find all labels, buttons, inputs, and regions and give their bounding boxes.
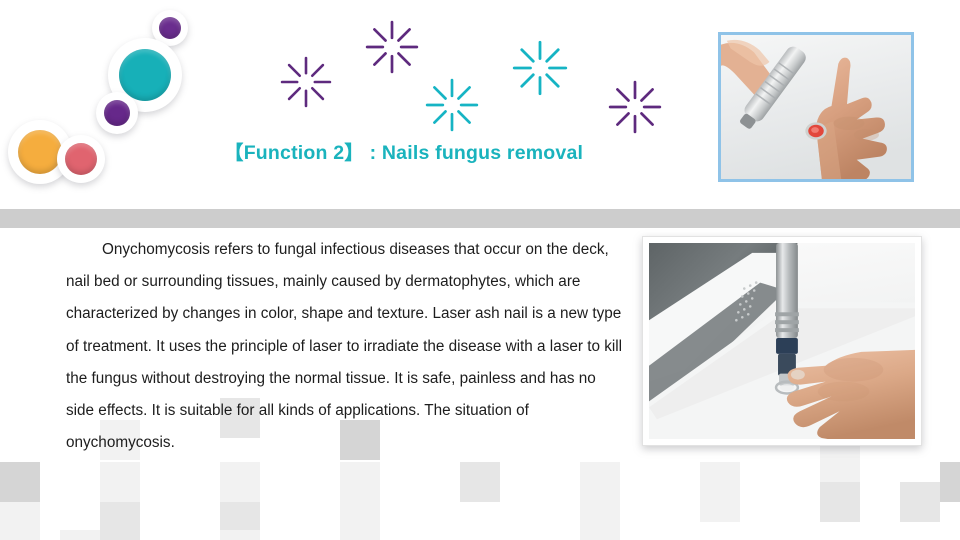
- circle-purple-small-top-core: [159, 17, 181, 39]
- checker-square: [0, 462, 40, 502]
- body-paragraph: Onychomycosis refers to fungal infectiou…: [66, 234, 624, 459]
- checker-square: [940, 462, 960, 502]
- circle-purple-mid: [96, 92, 138, 134]
- checker-square: [220, 530, 260, 540]
- starburst-purple-2: [365, 20, 419, 74]
- checker-square: [0, 502, 40, 540]
- checker-square: [900, 482, 940, 522]
- checker-square: [220, 502, 260, 540]
- checker-square: [460, 462, 500, 502]
- horizontal-divider-band: [0, 209, 960, 228]
- starburst-purple-2-glyph: [365, 20, 419, 74]
- checker-square: [820, 482, 860, 522]
- photo-laser-device-arm[interactable]: [642, 236, 922, 446]
- laser-device-illustration: [649, 243, 915, 439]
- checker-square: [100, 462, 140, 502]
- checker-square: [580, 502, 620, 540]
- starburst-purple-1: [280, 56, 332, 108]
- nail-laser-illustration: [721, 35, 911, 179]
- page-title: 【Function 2】 : Nails fungus removal: [224, 136, 583, 165]
- checker-square: [100, 502, 140, 540]
- circle-rose: [57, 135, 105, 183]
- starburst-purple-3: [608, 80, 662, 134]
- circle-orange-large-core: [18, 130, 62, 174]
- checker-square: [340, 462, 380, 502]
- circle-rose-core: [65, 143, 97, 175]
- checker-square: [700, 482, 740, 522]
- starburst-teal-1-glyph: [425, 78, 479, 132]
- circle-purple-mid-core: [104, 100, 130, 126]
- starburst-purple-1-glyph: [280, 56, 332, 108]
- checker-square: [700, 462, 740, 502]
- checker-square: [60, 530, 100, 540]
- checker-square: [340, 502, 380, 540]
- checker-square: [220, 462, 260, 502]
- photo-laser-device-arm-image: [649, 243, 915, 439]
- slide-root: 【Function 2】 : Nails fungus removal Onyc…: [0, 0, 960, 540]
- starburst-purple-3-glyph: [608, 80, 662, 134]
- photo-nail-laser-handpiece[interactable]: [718, 32, 914, 182]
- starburst-teal-2: [512, 40, 568, 96]
- starburst-teal-1: [425, 78, 479, 132]
- checker-square: [580, 462, 620, 502]
- checker-square: [820, 462, 860, 502]
- photo-nail-laser-handpiece-image: [721, 35, 911, 179]
- circle-teal-large-core: [119, 49, 171, 101]
- starburst-teal-2-glyph: [512, 40, 568, 96]
